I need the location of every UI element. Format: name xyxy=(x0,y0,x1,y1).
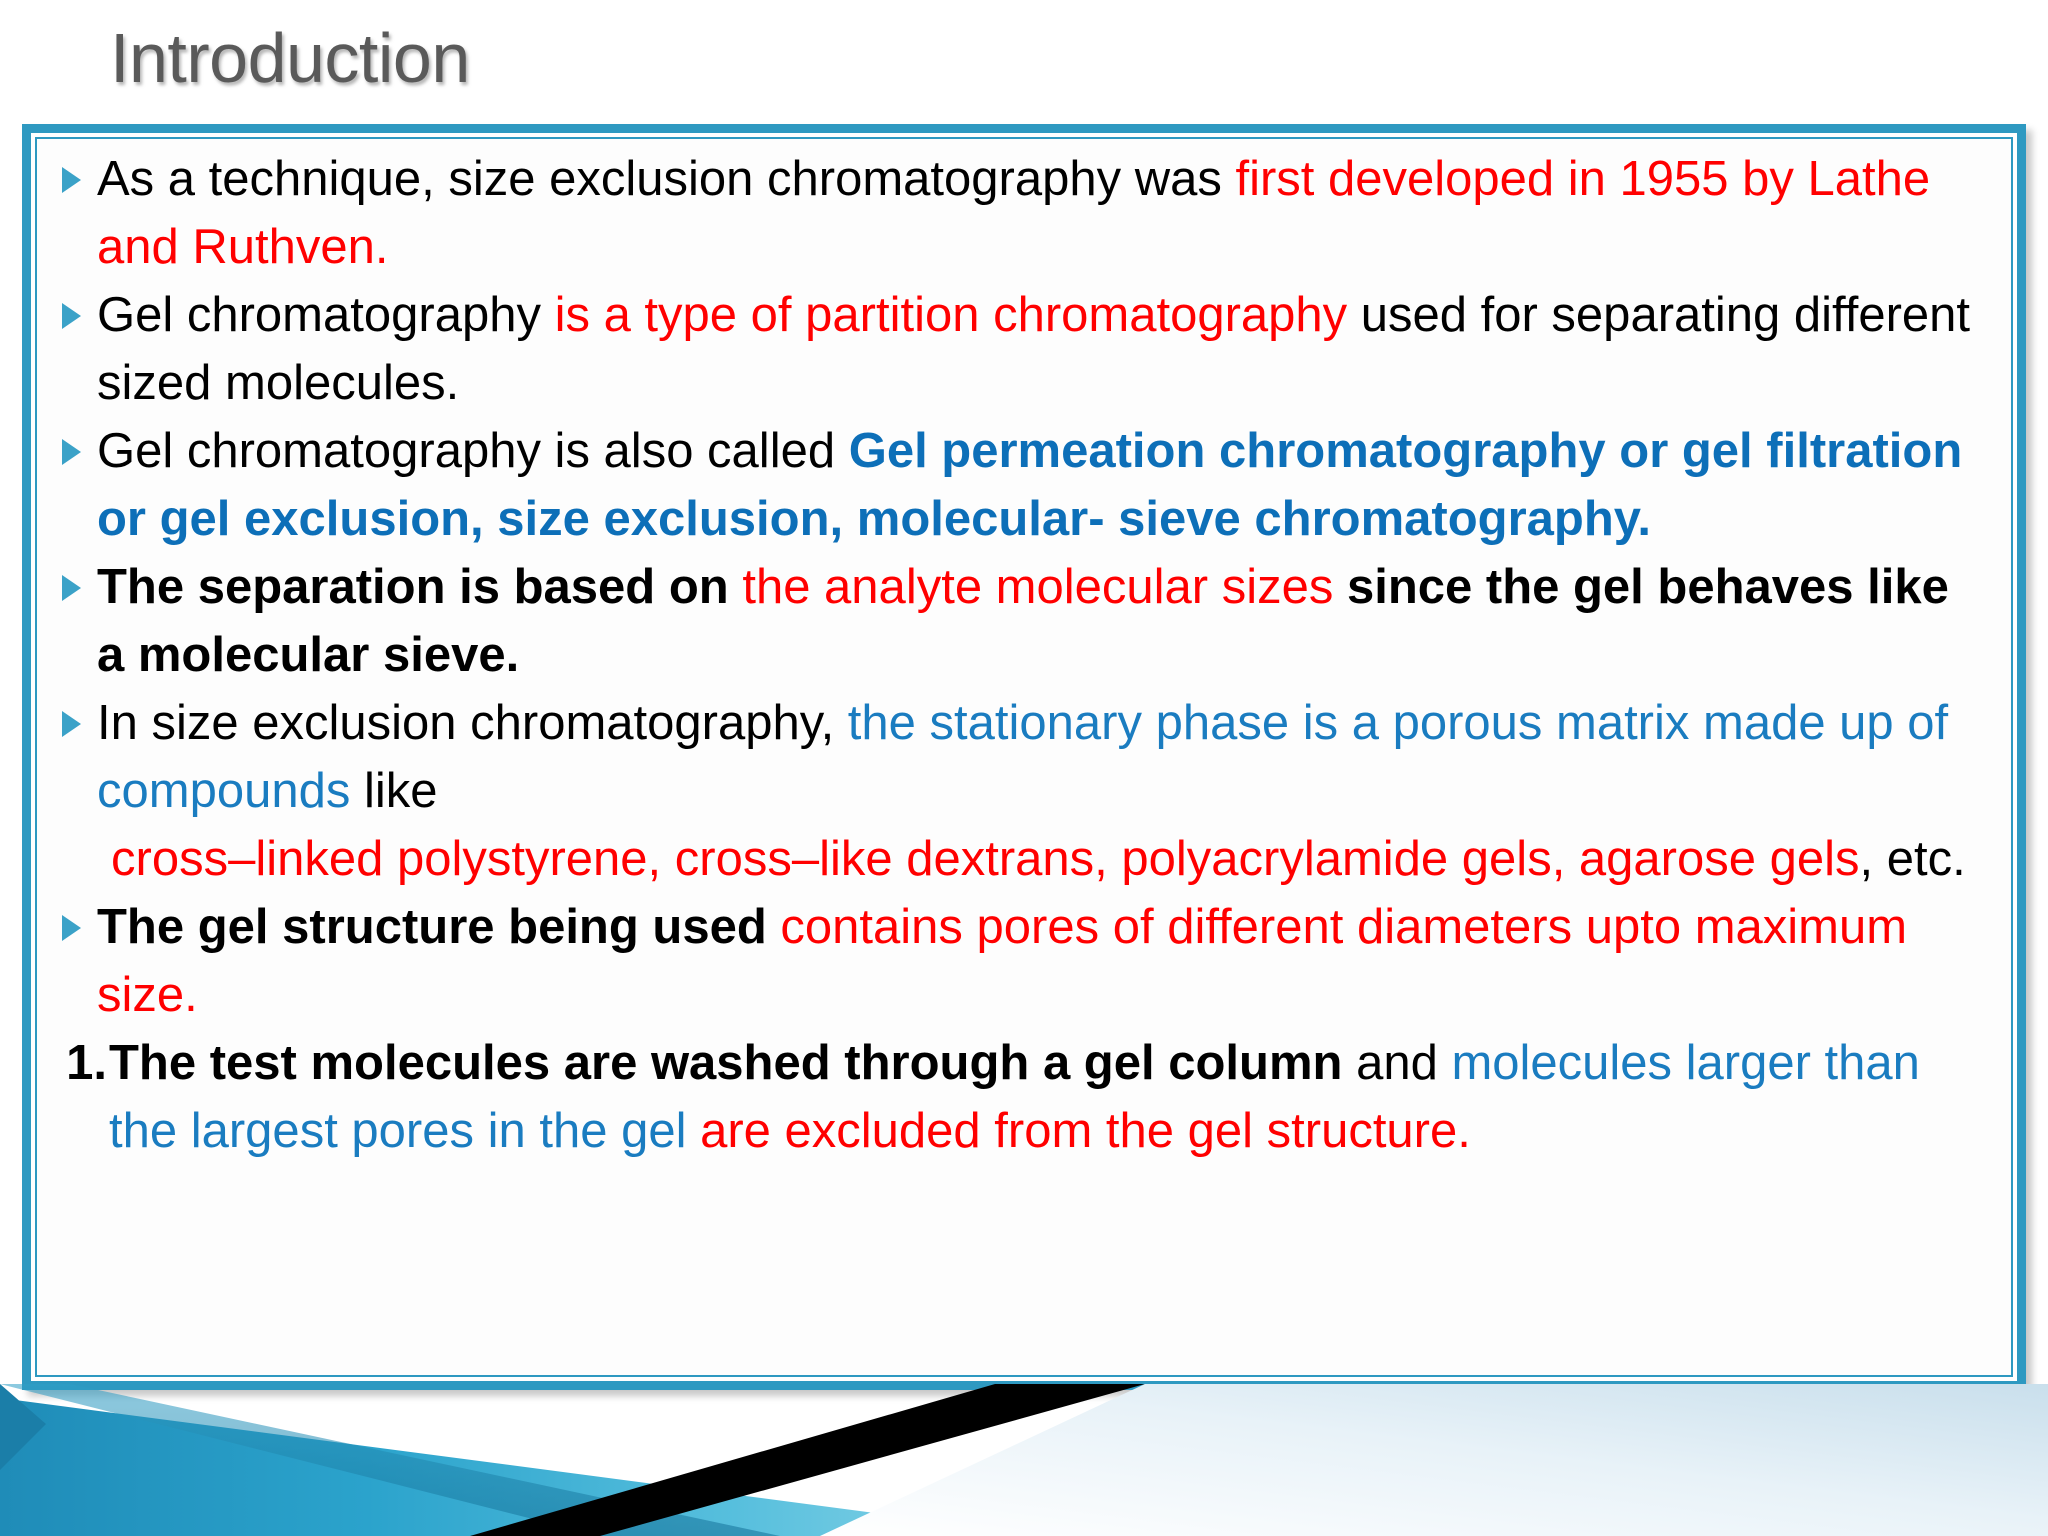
page-title: Introduction xyxy=(110,22,470,96)
bullet-item: In size exclusion chromatography, the st… xyxy=(37,689,1997,825)
triangle-icon xyxy=(62,439,81,465)
bullet-item: 1.The test molecules are washed through … xyxy=(37,1029,1997,1165)
bullet-text: Gel chromatography is also called Gel pe… xyxy=(97,417,1997,553)
bullet-list: As a technique, size exclusion chromatog… xyxy=(37,145,2011,1165)
text-run-black: As a technique, size exclusion chromatog… xyxy=(97,152,1235,206)
bullet-item: As a technique, size exclusion chromatog… xyxy=(37,145,1997,281)
content-box-inner: As a technique, size exclusion chromatog… xyxy=(35,137,2013,1377)
text-run-red: are excluded from the gel structure. xyxy=(700,1104,1471,1158)
text-run-black: like xyxy=(350,764,437,818)
triangle-icon xyxy=(62,915,81,941)
triangle-icon xyxy=(62,711,81,737)
bullet-text: The separation is based on the analyte m… xyxy=(97,553,1997,689)
bullet-spacer xyxy=(37,825,97,847)
text-run-black: Gel chromatography xyxy=(97,288,555,342)
text-run-black: and xyxy=(1342,1036,1451,1090)
bottom-decoration-shapes xyxy=(0,1384,2048,1536)
bullet-text: Gel chromatography is a type of partitio… xyxy=(97,281,1997,417)
deco-black-stripe xyxy=(470,1384,1145,1536)
text-run-black-bold: The separation is based on xyxy=(97,560,742,614)
bullet-text: In size exclusion chromatography, the st… xyxy=(97,689,1997,825)
bullet-triangle-icon xyxy=(37,893,97,941)
text-run-red: cross–linked polystyrene, cross–like dex… xyxy=(111,832,1860,886)
text-run-black: In size exclusion chromatography, xyxy=(97,696,848,750)
text-run-black: Gel chromatography is also called xyxy=(97,424,849,478)
bullet-item: Gel chromatography is also called Gel pe… xyxy=(37,417,1997,553)
bullet-triangle-icon xyxy=(37,553,97,601)
text-run-red: is a type of partition chromatography xyxy=(555,288,1348,342)
triangle-icon xyxy=(62,303,81,329)
bottom-decoration xyxy=(0,1384,2048,1536)
text-run-red: the analyte molecular sizes xyxy=(742,560,1333,614)
bullet-number: 1. xyxy=(37,1029,109,1097)
bullet-text: As a technique, size exclusion chromatog… xyxy=(97,145,1997,281)
bullet-triangle-icon xyxy=(37,689,97,737)
triangle-icon xyxy=(62,167,81,193)
deco-teal-band xyxy=(0,1398,1050,1536)
bullet-item: Gel chromatography is a type of partitio… xyxy=(37,281,1997,417)
bullet-item: The gel structure being used contains po… xyxy=(37,893,1997,1029)
deco-teal-shadow xyxy=(0,1384,780,1536)
bullet-text: The gel structure being used contains po… xyxy=(97,893,1997,1029)
slide-canvas: Introduction As a technique, size exclus… xyxy=(0,0,2048,1536)
content-box: As a technique, size exclusion chromatog… xyxy=(22,124,2026,1390)
bullet-triangle-icon xyxy=(37,417,97,465)
bullet-item: cross–linked polystyrene, cross–like dex… xyxy=(37,825,1997,893)
bullet-triangle-icon xyxy=(37,145,97,193)
text-run-black-bold: The test molecules are washed through a … xyxy=(109,1036,1342,1090)
bullet-triangle-icon xyxy=(37,281,97,329)
bullet-item: The separation is based on the analyte m… xyxy=(37,553,1997,689)
bullet-text: cross–linked polystyrene, cross–like dex… xyxy=(97,825,1997,893)
deco-light-wedge xyxy=(820,1384,2048,1536)
deco-corner-sliver xyxy=(0,1384,46,1470)
text-run-black: , etc. xyxy=(1860,832,1966,886)
bullet-text: The test molecules are washed through a … xyxy=(109,1029,1997,1165)
text-run-black-bold: The gel structure being used xyxy=(97,900,780,954)
triangle-icon xyxy=(62,575,81,601)
